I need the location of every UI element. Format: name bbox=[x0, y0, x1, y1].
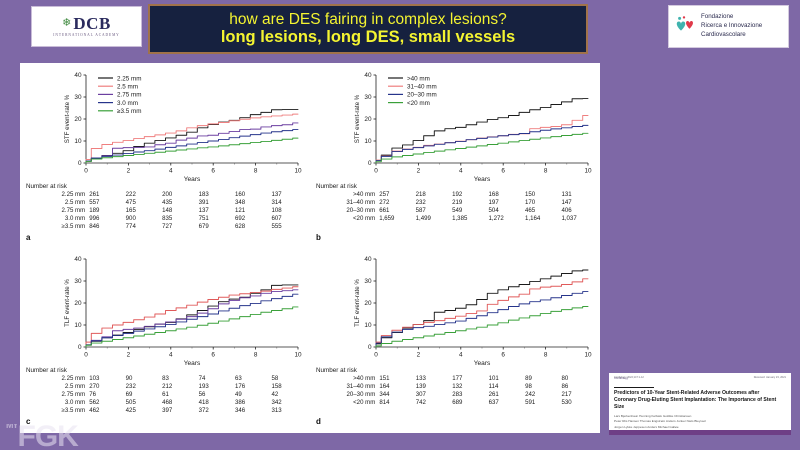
risk-cell: 61 bbox=[162, 391, 198, 399]
risk-cell: 197 bbox=[489, 199, 525, 207]
risk-cell: 148 bbox=[162, 207, 198, 215]
table-row: 2.5 mm557475435391348314 bbox=[24, 199, 308, 207]
article-meta-right: Received: January 23, 2021 bbox=[754, 376, 786, 380]
svg-text:6: 6 bbox=[501, 168, 505, 175]
svg-text:40: 40 bbox=[74, 256, 82, 263]
risk-cell: 218 bbox=[416, 191, 452, 199]
risk-cell: 386 bbox=[235, 398, 271, 406]
risk-table-title: Number at risk bbox=[316, 367, 600, 374]
risk-row-label: 2.75 mm bbox=[24, 391, 89, 399]
svg-text:2: 2 bbox=[417, 352, 421, 359]
svg-text:20: 20 bbox=[74, 116, 82, 123]
risk-cell: 49 bbox=[235, 391, 271, 399]
risk-row-label: >40 mm bbox=[314, 191, 379, 199]
series-line bbox=[376, 125, 588, 163]
risk-cell: 1,659 bbox=[379, 214, 415, 222]
fondazione-line2: Ricerca e Innovazione bbox=[701, 22, 762, 31]
risk-cell: 101 bbox=[489, 375, 525, 383]
watermark-large: FGK bbox=[18, 424, 78, 450]
risk-cell: 587 bbox=[416, 207, 452, 215]
table-row: 31–40 mm1641391321149886 bbox=[314, 383, 598, 391]
risk-cell: 232 bbox=[126, 383, 162, 391]
svg-text:Years: Years bbox=[184, 176, 201, 183]
svg-text:8: 8 bbox=[544, 168, 548, 175]
svg-text:10: 10 bbox=[74, 138, 82, 145]
svg-text:8: 8 bbox=[254, 168, 258, 175]
risk-cell: 270 bbox=[89, 383, 125, 391]
table-row: 31–40 mm272232219197170147 bbox=[314, 199, 598, 207]
article-title: Predictors of 10-Year Stent-Related Adve… bbox=[614, 390, 782, 411]
risk-table-title: Number at risk bbox=[26, 367, 310, 374]
risk-cell: 56 bbox=[199, 391, 235, 399]
risk-cell: 462 bbox=[89, 406, 125, 414]
svg-text:8: 8 bbox=[544, 352, 548, 359]
risk-cell: 212 bbox=[162, 383, 198, 391]
risk-cell: 397 bbox=[162, 406, 198, 414]
slide-title-line1: how are DES fairing in complex lesions? bbox=[229, 12, 506, 28]
risk-cell: 69 bbox=[126, 391, 162, 399]
risk-cell: 835 bbox=[162, 214, 198, 222]
svg-text:10: 10 bbox=[74, 322, 82, 329]
risk-cell: 418 bbox=[199, 398, 235, 406]
risk-cell: 692 bbox=[235, 214, 271, 222]
risk-row-label: <20 mm bbox=[314, 214, 379, 222]
chart-panel-b: 0102030400246810YearsSTF event-rate %>40… bbox=[312, 65, 600, 249]
svg-text:40: 40 bbox=[364, 256, 372, 263]
svg-text:2: 2 bbox=[417, 168, 421, 175]
risk-cell: 435 bbox=[162, 199, 198, 207]
risk-cell: 1,037 bbox=[561, 214, 598, 222]
svg-text:8: 8 bbox=[254, 352, 258, 359]
risk-cell: 468 bbox=[162, 398, 198, 406]
risk-cell: 283 bbox=[452, 391, 488, 399]
risk-cell: 83 bbox=[162, 375, 198, 383]
risk-cell: 607 bbox=[271, 214, 308, 222]
chart-svg-d: 0102030400246810YearsTLF event-rate % bbox=[312, 249, 600, 371]
article-bottom-bar bbox=[609, 430, 791, 435]
chart-panel-a: 0102030400246810YearsSTF event-rate %2.2… bbox=[22, 65, 310, 249]
risk-cell: 147 bbox=[561, 199, 598, 207]
risk-cell: 133 bbox=[416, 375, 452, 383]
risk-row-label: 31–40 mm bbox=[314, 383, 379, 391]
slide-title-line2: long lesions, long DES, small vessels bbox=[221, 28, 515, 46]
svg-text:20: 20 bbox=[364, 300, 372, 307]
risk-row-label: 20–30 mm bbox=[314, 207, 379, 215]
table-row: >40 mm257218192168150131 bbox=[314, 191, 598, 199]
table-row: >40 mm1511331771018980 bbox=[314, 375, 598, 383]
svg-text:4: 4 bbox=[169, 168, 173, 175]
risk-row-label: <20 mm bbox=[314, 398, 379, 406]
risk-cell: 1,272 bbox=[489, 214, 525, 222]
svg-text:40: 40 bbox=[364, 72, 372, 79]
legend-label: ≥3.5 mm bbox=[117, 108, 141, 115]
risk-table-title: Number at risk bbox=[26, 183, 310, 190]
risk-cell: 1,385 bbox=[452, 214, 488, 222]
risk-row-label: 3.0 mm bbox=[24, 214, 89, 222]
risk-cell: 151 bbox=[379, 375, 415, 383]
legend-label: 20–30 mm bbox=[407, 92, 437, 99]
svg-text:0: 0 bbox=[78, 344, 82, 351]
svg-text:10: 10 bbox=[294, 168, 302, 175]
svg-text:2: 2 bbox=[127, 168, 131, 175]
svg-text:2: 2 bbox=[127, 352, 131, 359]
legend-label: 2.75 mm bbox=[117, 92, 142, 99]
series-line bbox=[86, 307, 298, 347]
article-journal: Cardiology bbox=[614, 376, 628, 380]
risk-cell: 74 bbox=[199, 375, 235, 383]
svg-text:0: 0 bbox=[84, 168, 88, 175]
svg-text:10: 10 bbox=[294, 352, 302, 359]
legend-label: 2.5 mm bbox=[117, 84, 138, 91]
table-row: 2.5 mm270232212193176158 bbox=[24, 383, 308, 391]
risk-cell: 900 bbox=[126, 214, 162, 222]
risk-cell: 150 bbox=[525, 191, 561, 199]
risk-cell: 504 bbox=[489, 207, 525, 215]
risk-cell: 103 bbox=[89, 375, 125, 383]
risk-cell: 314 bbox=[271, 199, 308, 207]
risk-cell: 727 bbox=[162, 222, 198, 230]
series-line bbox=[376, 279, 588, 347]
risk-row-label: ≥3.5 mm bbox=[24, 406, 89, 414]
risk-table-c: Number at risk2.25 mm10390837463582.5 mm… bbox=[22, 367, 310, 414]
risk-row-label: >40 mm bbox=[314, 375, 379, 383]
risk-cell: 139 bbox=[416, 383, 452, 391]
risk-cell: 222 bbox=[126, 191, 162, 199]
svg-text:20: 20 bbox=[74, 300, 82, 307]
risk-cell: 261 bbox=[89, 191, 125, 199]
table-row: 3.0 mm562505468418386342 bbox=[24, 398, 308, 406]
svg-text:STF event-rate %: STF event-rate % bbox=[64, 94, 71, 143]
risk-row-label: 3.0 mm bbox=[24, 398, 89, 406]
risk-cell: 108 bbox=[271, 207, 308, 215]
risk-cell: 137 bbox=[199, 207, 235, 215]
risk-row-label: 2.25 mm bbox=[24, 375, 89, 383]
risk-cell: 344 bbox=[379, 391, 415, 399]
risk-row-label: 2.75 mm bbox=[24, 207, 89, 215]
svg-text:6: 6 bbox=[501, 352, 505, 359]
risk-row-label: 20–30 mm bbox=[314, 391, 379, 399]
legend-label: 31–40 mm bbox=[407, 84, 437, 91]
svg-text:TLF event-rate %: TLF event-rate % bbox=[354, 279, 361, 327]
risk-cell: 679 bbox=[199, 222, 235, 230]
risk-cell: 1,164 bbox=[525, 214, 561, 222]
risk-cell: 63 bbox=[235, 375, 271, 383]
risk-cell: 131 bbox=[561, 191, 598, 199]
risk-cell: 158 bbox=[271, 383, 308, 391]
risk-cell: 742 bbox=[416, 398, 452, 406]
svg-text:Years: Years bbox=[474, 360, 491, 367]
risk-cell: 637 bbox=[489, 398, 525, 406]
dcb-academy-logo: ❄ DCB INTERNATIONAL ACADEMY bbox=[31, 6, 142, 47]
risk-table-title: Number at risk bbox=[316, 183, 600, 190]
svg-text:4: 4 bbox=[459, 168, 463, 175]
svg-text:0: 0 bbox=[374, 168, 378, 175]
svg-text:20: 20 bbox=[364, 116, 372, 123]
chart-svg-a: 0102030400246810YearsSTF event-rate %2.2… bbox=[22, 65, 310, 187]
panel-letter-d: d bbox=[316, 417, 321, 426]
risk-cell: 177 bbox=[452, 375, 488, 383]
legend-label: <20 mm bbox=[407, 100, 430, 107]
svg-text:10: 10 bbox=[364, 138, 372, 145]
svg-text:0: 0 bbox=[368, 160, 372, 167]
legend-label: 3.0 mm bbox=[117, 100, 138, 107]
risk-row-label: 31–40 mm bbox=[314, 199, 379, 207]
article-divider bbox=[614, 387, 654, 388]
svg-text:STF event-rate %: STF event-rate % bbox=[354, 94, 361, 143]
svg-text:0: 0 bbox=[78, 160, 82, 167]
risk-cell: 814 bbox=[379, 398, 415, 406]
risk-cell: 689 bbox=[452, 398, 488, 406]
dcb-logo-text: DCB bbox=[73, 15, 110, 32]
dcb-logo-subtitle: INTERNATIONAL ACADEMY bbox=[53, 34, 119, 38]
fondazione-line1: Fondazione bbox=[701, 13, 762, 22]
risk-cell: 232 bbox=[416, 199, 452, 207]
svg-text:4: 4 bbox=[459, 352, 463, 359]
risk-cell: 505 bbox=[126, 398, 162, 406]
series-line bbox=[86, 290, 298, 347]
svg-text:Years: Years bbox=[184, 360, 201, 367]
risk-cell: 348 bbox=[235, 199, 271, 207]
risk-cell: 465 bbox=[525, 207, 561, 215]
risk-cell: 76 bbox=[89, 391, 125, 399]
risk-cell: 425 bbox=[126, 406, 162, 414]
svg-text:6: 6 bbox=[211, 168, 215, 175]
risk-cell: 89 bbox=[525, 375, 561, 383]
risk-cell: 176 bbox=[235, 383, 271, 391]
chart-panel-d: 0102030400246810YearsTLF event-rate %Num… bbox=[312, 249, 600, 433]
risk-cell: 391 bbox=[199, 199, 235, 207]
table-row: 20–30 mm661587549504465406 bbox=[314, 207, 598, 215]
risk-cell: 555 bbox=[271, 222, 308, 230]
risk-cell: 591 bbox=[525, 398, 561, 406]
risk-cell: 751 bbox=[199, 214, 235, 222]
risk-cell: 313 bbox=[271, 406, 308, 414]
svg-text:30: 30 bbox=[74, 94, 82, 101]
watermark-clip: MYFGK bbox=[0, 424, 140, 450]
risk-table-d: Number at risk>40 mm151133177101898031–4… bbox=[312, 367, 600, 406]
risk-cell: 406 bbox=[561, 207, 598, 215]
risk-cell: 90 bbox=[126, 375, 162, 383]
leaf-icon: ❄ bbox=[62, 18, 71, 29]
slide-canvas: ❄ DCB INTERNATIONAL ACADEMY how are DES … bbox=[0, 0, 800, 450]
risk-cell: 217 bbox=[562, 391, 599, 399]
chart-svg-c: 0102030400246810YearsTLF event-rate % bbox=[22, 249, 310, 371]
table-row: 2.75 mm766961564942 bbox=[24, 391, 308, 399]
table-row: ≥3.5 mm462425397372346313 bbox=[24, 406, 308, 414]
risk-cell: 307 bbox=[416, 391, 452, 399]
risk-cell: 189 bbox=[89, 207, 125, 215]
risk-cell: 114 bbox=[489, 383, 525, 391]
risk-cell: 661 bbox=[379, 207, 415, 215]
risk-cell: 257 bbox=[379, 191, 415, 199]
risk-cell: 628 bbox=[235, 222, 271, 230]
risk-cell: 164 bbox=[379, 383, 415, 391]
risk-cell: 137 bbox=[271, 191, 308, 199]
table-row: <20 mm1,6591,4991,3851,2721,1641,037 bbox=[314, 214, 598, 222]
slide-title-banner: how are DES fairing in complex lesions? … bbox=[148, 4, 588, 54]
svg-text:0: 0 bbox=[374, 352, 378, 359]
risk-cell: 562 bbox=[89, 398, 125, 406]
svg-text:10: 10 bbox=[364, 322, 372, 329]
svg-text:10: 10 bbox=[584, 352, 592, 359]
series-line bbox=[376, 99, 588, 163]
risk-row-label: ≥3.5 mm bbox=[24, 222, 89, 230]
svg-text:0: 0 bbox=[84, 352, 88, 359]
risk-cell: 242 bbox=[525, 391, 561, 399]
risk-cell: 121 bbox=[235, 207, 271, 215]
risk-cell: 192 bbox=[452, 191, 488, 199]
risk-table-b: Number at risk>40 mm25721819216815013131… bbox=[312, 183, 600, 222]
table-row: 3.0 mm996900835751692607 bbox=[24, 214, 308, 222]
risk-cell: 132 bbox=[452, 383, 488, 391]
svg-text:30: 30 bbox=[74, 278, 82, 285]
svg-text:4: 4 bbox=[169, 352, 173, 359]
risk-cell: 346 bbox=[235, 406, 271, 414]
svg-text:6: 6 bbox=[211, 352, 215, 359]
series-line bbox=[376, 270, 588, 347]
svg-text:Years: Years bbox=[474, 176, 491, 183]
risk-cell: 165 bbox=[126, 207, 162, 215]
table-row: 20–30 mm344307283261242217 bbox=[314, 391, 598, 399]
svg-text:40: 40 bbox=[74, 72, 82, 79]
panel-letter-a: a bbox=[26, 233, 30, 242]
risk-cell: 58 bbox=[271, 375, 308, 383]
svg-text:TLF event-rate %: TLF event-rate % bbox=[64, 279, 71, 327]
svg-text:30: 30 bbox=[364, 94, 372, 101]
risk-cell: 168 bbox=[489, 191, 525, 199]
risk-cell: 475 bbox=[126, 199, 162, 207]
svg-text:30: 30 bbox=[364, 278, 372, 285]
risk-cell: 42 bbox=[271, 391, 308, 399]
watermark-small: MY bbox=[6, 424, 18, 430]
risk-cell: 549 bbox=[452, 207, 488, 215]
table-row: 2.25 mm261222200183160137 bbox=[24, 191, 308, 199]
legend-label: 2.25 mm bbox=[117, 75, 142, 82]
risk-row-label: 2.5 mm bbox=[24, 383, 89, 391]
figure-panel: 0102030400246810YearsSTF event-rate %2.2… bbox=[20, 63, 600, 433]
watermark: MYFGK bbox=[6, 424, 78, 450]
panel-letter-b: b bbox=[316, 233, 321, 242]
risk-row-label: 2.25 mm bbox=[24, 191, 89, 199]
chart-panel-c: 0102030400246810YearsTLF event-rate %Num… bbox=[22, 249, 310, 433]
svg-text:0: 0 bbox=[368, 344, 372, 351]
risk-cell: 557 bbox=[89, 199, 125, 207]
risk-cell: 846 bbox=[89, 222, 125, 230]
fondazione-logo: Fondazione Ricerca e Innovazione Cardiov… bbox=[668, 5, 789, 48]
risk-cell: 372 bbox=[199, 406, 235, 414]
risk-cell: 261 bbox=[489, 391, 525, 399]
article-thumbnail[interactable]: Cardiology 2022;147:1-12 Received: Janua… bbox=[609, 373, 791, 435]
fondazione-line3: Cardiovascolare bbox=[701, 31, 762, 40]
series-line bbox=[86, 285, 298, 347]
table-row: 2.75 mm189165148137121108 bbox=[24, 207, 308, 215]
legend-label: >40 mm bbox=[407, 75, 430, 82]
risk-cell: 98 bbox=[525, 383, 561, 391]
risk-cell: 342 bbox=[271, 398, 308, 406]
risk-cell: 80 bbox=[562, 375, 599, 383]
risk-cell: 530 bbox=[562, 398, 599, 406]
hearts-icon bbox=[675, 15, 697, 39]
table-row: ≥3.5 mm846774727679628555 bbox=[24, 222, 308, 230]
risk-cell: 996 bbox=[89, 214, 125, 222]
risk-cell: 86 bbox=[562, 383, 599, 391]
risk-cell: 160 bbox=[235, 191, 271, 199]
risk-cell: 219 bbox=[452, 199, 488, 207]
risk-cell: 200 bbox=[162, 191, 198, 199]
chart-svg-b: 0102030400246810YearsSTF event-rate %>40… bbox=[312, 65, 600, 187]
table-row: 2.25 mm1039083746358 bbox=[24, 375, 308, 383]
risk-cell: 170 bbox=[525, 199, 561, 207]
risk-row-label: 2.5 mm bbox=[24, 199, 89, 207]
risk-cell: 193 bbox=[199, 383, 235, 391]
risk-cell: 183 bbox=[199, 191, 235, 199]
table-row: <20 mm814742689637591530 bbox=[314, 398, 598, 406]
risk-cell: 272 bbox=[379, 199, 415, 207]
risk-cell: 1,499 bbox=[416, 214, 452, 222]
svg-text:10: 10 bbox=[584, 168, 592, 175]
risk-cell: 774 bbox=[126, 222, 162, 230]
series-line bbox=[86, 130, 298, 163]
risk-table-a: Number at risk2.25 mm2612222001831601372… bbox=[22, 183, 310, 230]
